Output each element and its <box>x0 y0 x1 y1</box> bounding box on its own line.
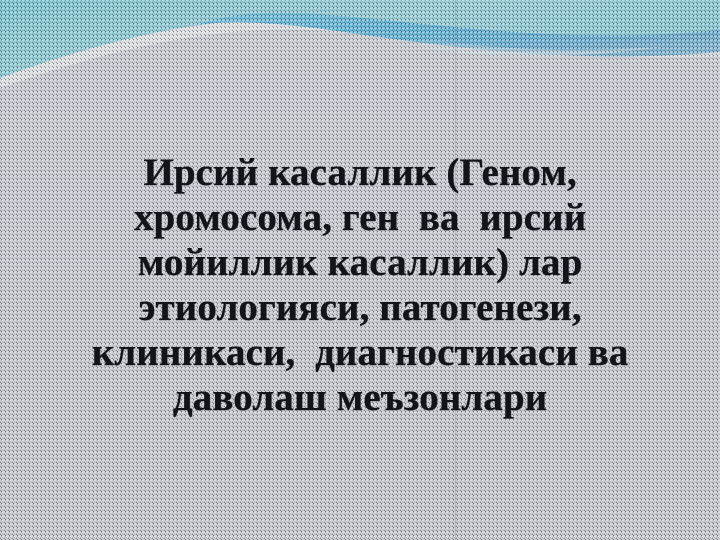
presentation-slide: Ирсий касаллик (Геном, хромосома, ген ва… <box>0 0 720 540</box>
title-line-4: этиологияси, патогенези, <box>20 285 700 330</box>
slide-title: Ирсий касаллик (Геном, хромосома, ген ва… <box>0 150 720 420</box>
title-line-3: мойиллик касаллик) лар <box>20 240 700 285</box>
title-line-6: даволаш меъзонлари <box>20 375 700 420</box>
title-line-2: хромосома, ген ва ирсий <box>20 195 700 240</box>
title-line-5: клиникаси, диагностикаси ва <box>20 330 700 375</box>
top-wave-decoration <box>0 0 720 110</box>
title-line-1: Ирсий касаллик (Геном, <box>20 150 700 195</box>
